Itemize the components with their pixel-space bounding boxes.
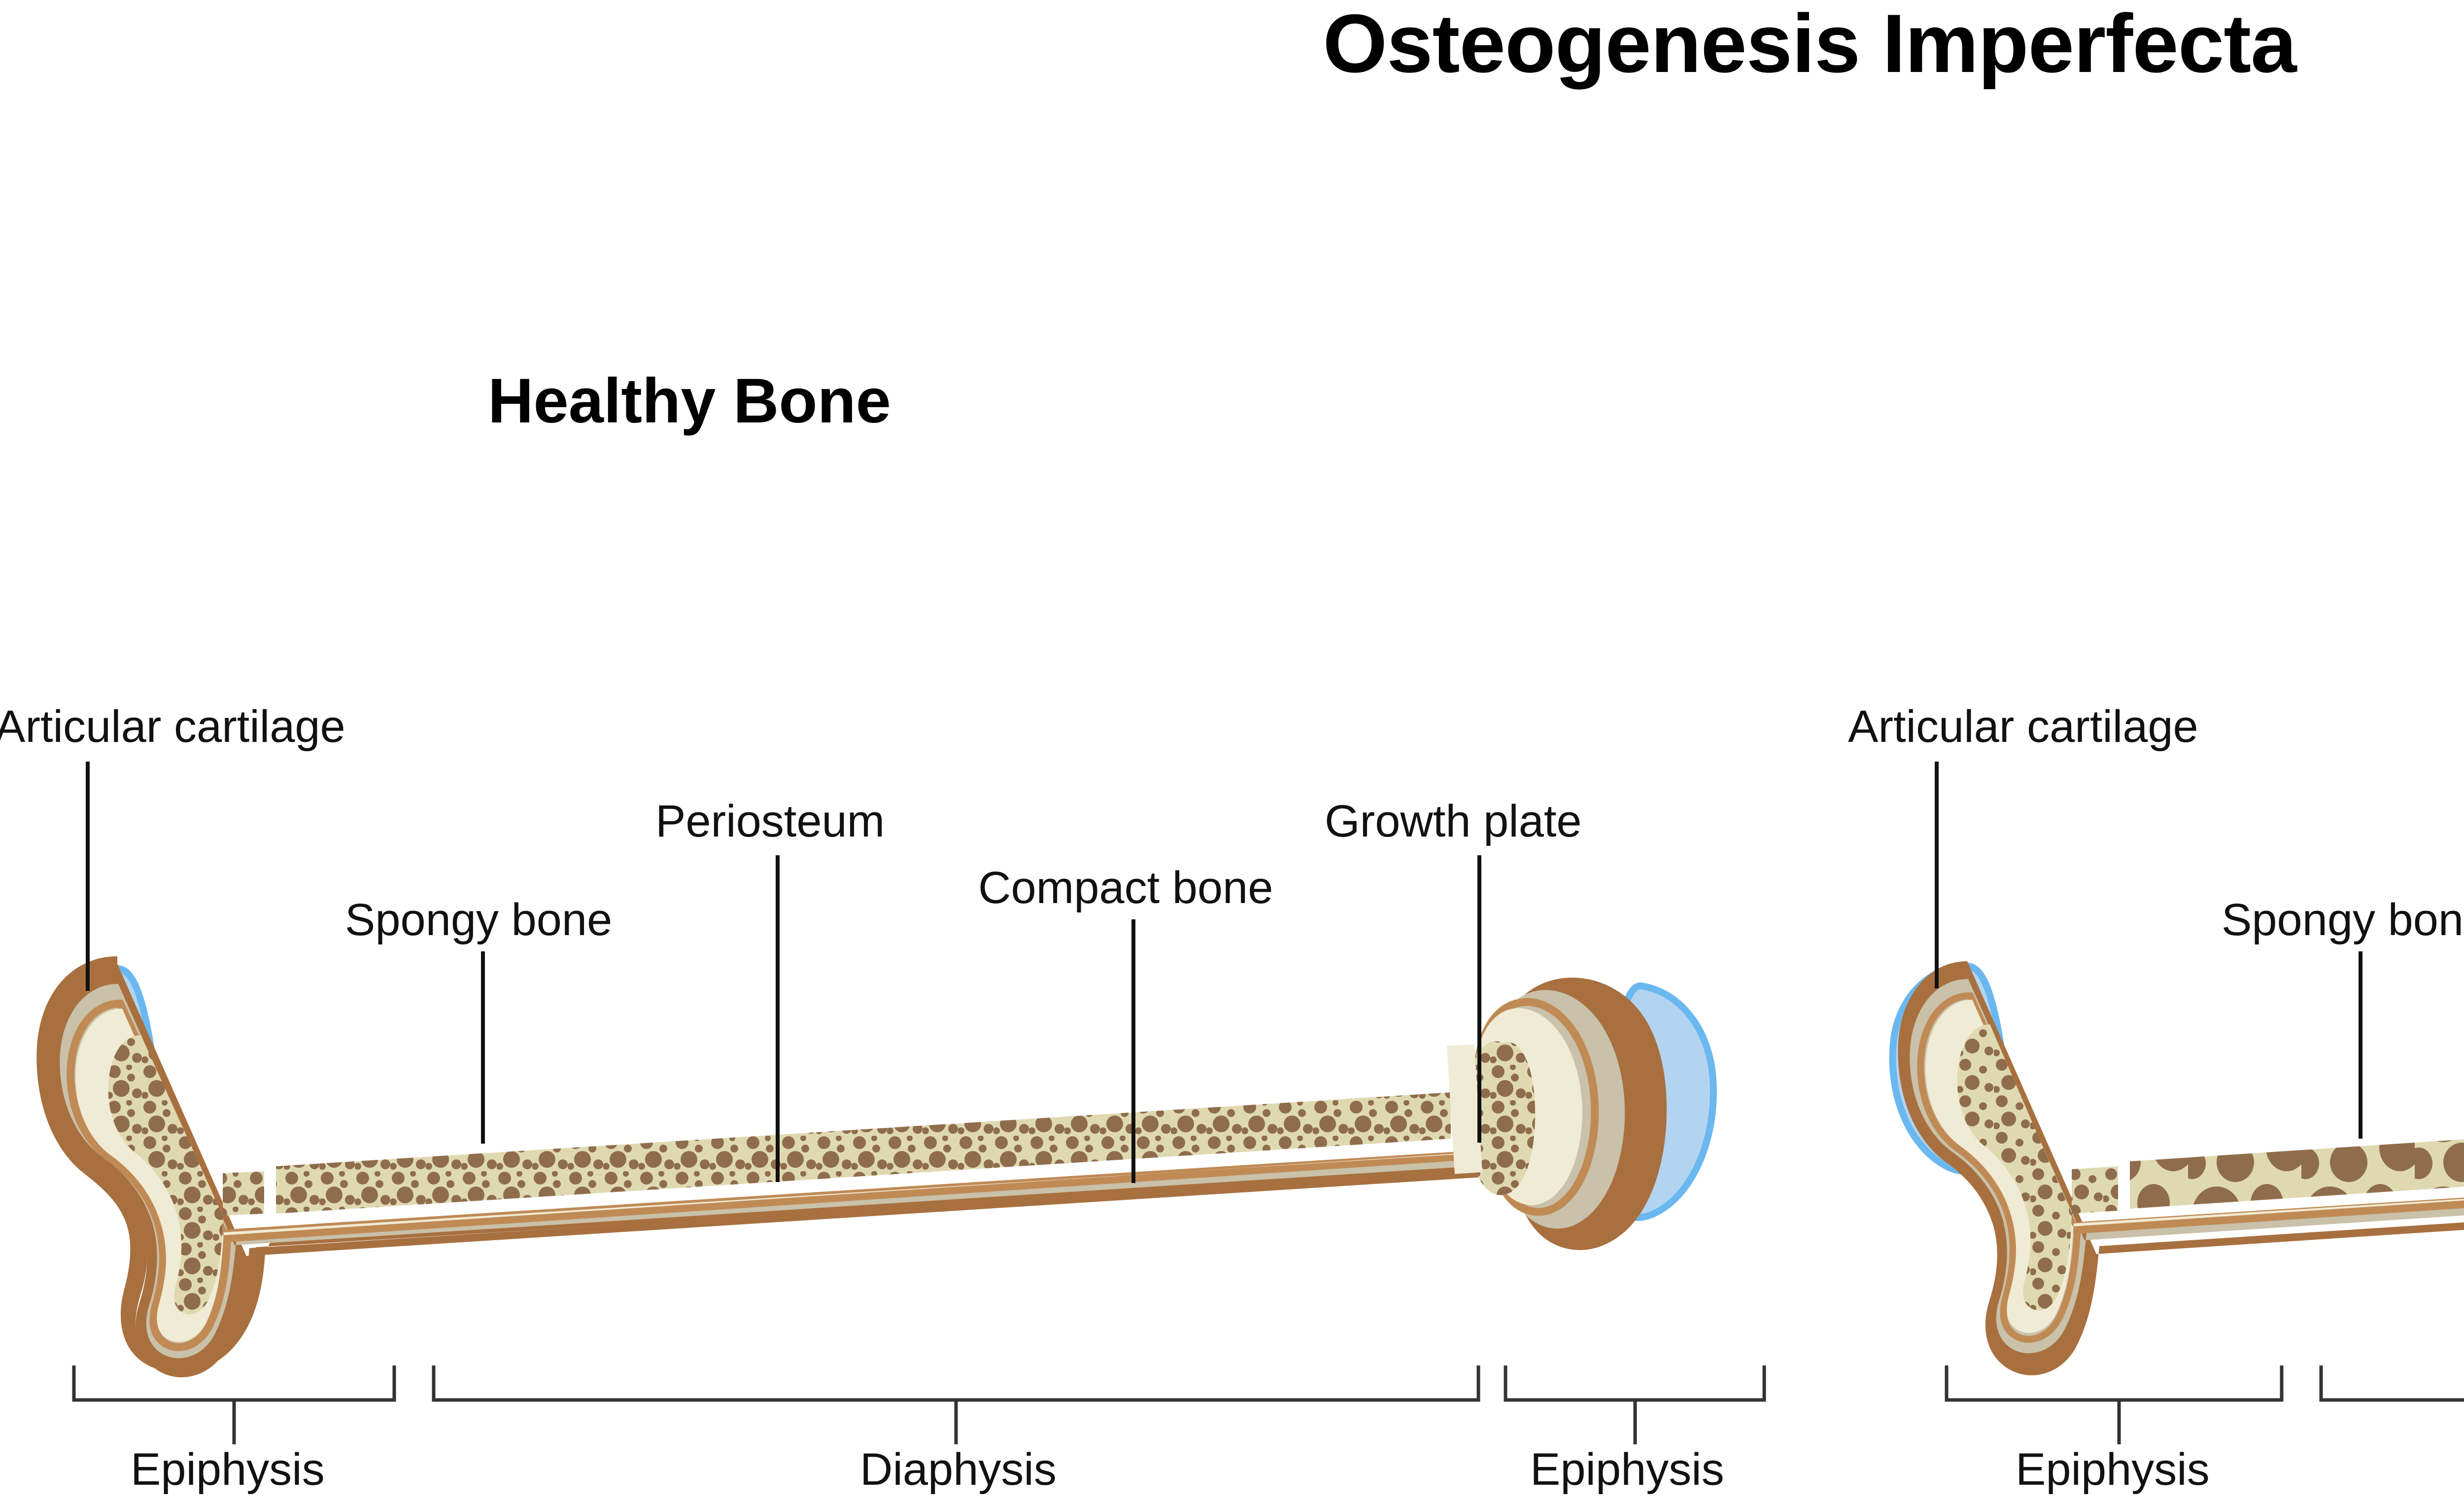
spongy-bone-region xyxy=(1957,1024,2464,1310)
region-label-epiphysis-left: Epiphysis xyxy=(2016,1447,2210,1492)
panel-healthy-bone: Healthy Bone xyxy=(0,0,1823,1501)
bracket-diaphysis xyxy=(2321,1365,2464,1400)
label-compact-bone: Compact bone xyxy=(978,865,1273,910)
healthy-brackets xyxy=(74,1365,1764,1444)
region-label-epiphysis-right: Epiphysis xyxy=(1530,1447,1724,1492)
region-label-diaphysis: Diaphysis xyxy=(860,1447,1057,1492)
region-label-epiphysis-left: Epiphysis xyxy=(131,1447,325,1492)
bracket-diaphysis xyxy=(434,1365,1478,1400)
bracket-epiphysis-left xyxy=(74,1365,394,1400)
label-spongy-bone: Spongy bone xyxy=(345,897,612,942)
bracket-epiphysis-right xyxy=(1506,1365,1764,1400)
label-periosteum: Periosteum xyxy=(655,799,885,844)
panel-brittle-bone: Brittle Bone xyxy=(1848,0,2464,1501)
label-articular-cartilage: Articular cartilage xyxy=(0,704,345,749)
diagram-canvas: Osteogenesis Imperfecta Healthy Bone xyxy=(0,0,2464,1501)
brittle-brackets xyxy=(1947,1365,2464,1444)
bracket-epiphysis-left xyxy=(1947,1365,2282,1400)
label-articular-cartilage: Articular cartilage xyxy=(1848,704,2198,749)
label-spongy-bone: Spongy bone xyxy=(2222,897,2464,942)
label-growth-plate: Growth plate xyxy=(1325,799,1582,844)
